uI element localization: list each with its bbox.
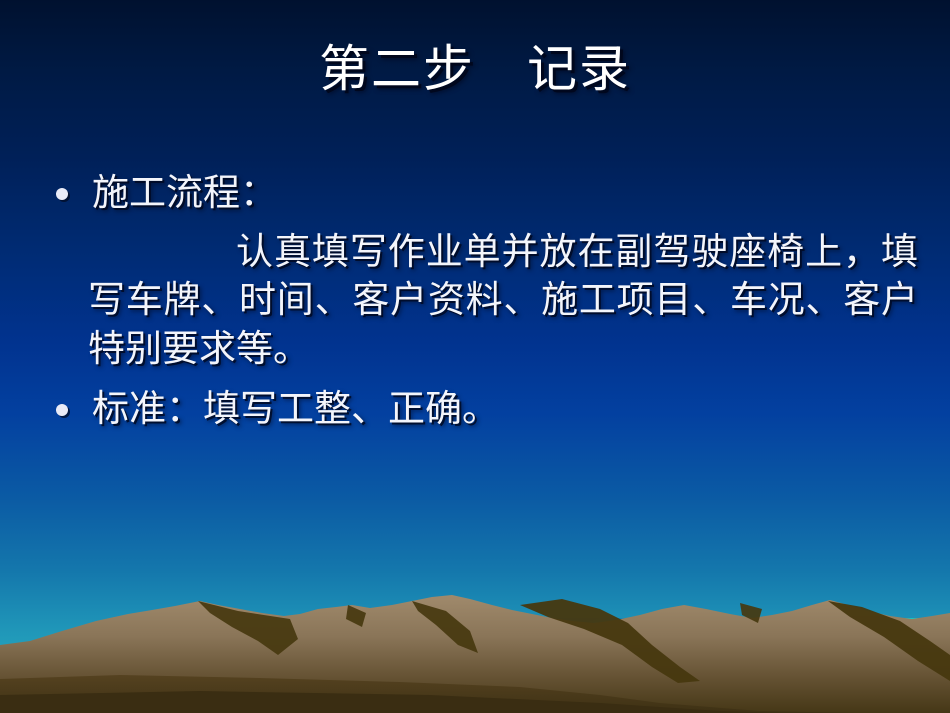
- mountain-landscape-graphic: [0, 583, 950, 713]
- bullet-item-process-label: 施工流程：: [92, 168, 918, 218]
- process-description-paragraph: 认真填写作业单并放在副驾驶座椅上，填写车牌、时间、客户资料、施工项目、车况、客户…: [48, 228, 918, 374]
- presentation-slide: 第二步 记录 施工流程： 认真填写作业单并放在副驾驶座椅上，填写车牌、时间、客户…: [0, 0, 950, 713]
- bullet-item-standard-label: 标准：填写工整、正确。: [92, 384, 918, 434]
- slide-body-block: 施工流程： 认真填写作业单并放在副驾驶座椅上，填写车牌、时间、客户资料、施工项目…: [48, 168, 918, 434]
- bullet-dot-icon: [56, 188, 68, 200]
- bullet-dot-icon: [56, 404, 68, 416]
- bullet-item-process: 施工流程：: [48, 168, 918, 218]
- slide-title-block: 第二步 记录: [0, 40, 950, 99]
- bullet-item-standard: 标准：填写工整、正确。: [48, 384, 918, 434]
- page-title: 第二步 记录: [319, 40, 631, 99]
